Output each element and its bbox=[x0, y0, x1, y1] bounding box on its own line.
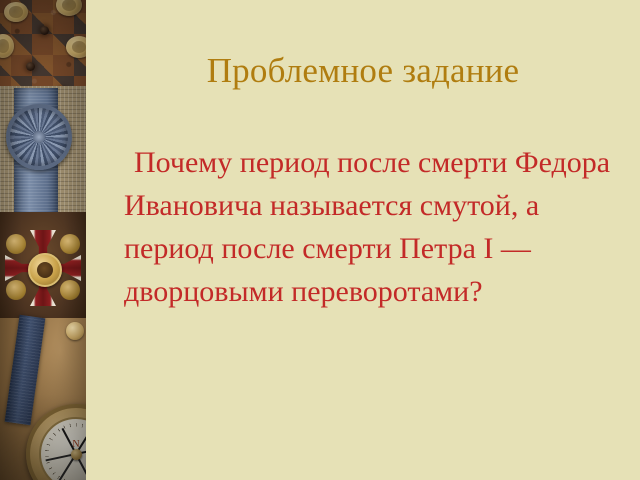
medal-center-medallion-icon bbox=[28, 253, 62, 287]
filigree-ornament-icon bbox=[6, 280, 26, 300]
compass-hub-icon bbox=[71, 449, 82, 460]
cross-medal-icon bbox=[0, 220, 86, 316]
strip-image-layer: N bbox=[0, 0, 86, 480]
slide-title: Проблемное задание bbox=[86, 52, 640, 91]
filigree-ornament-icon bbox=[60, 280, 80, 300]
gold-coin-icon bbox=[66, 322, 84, 340]
ribbon-rosette-icon bbox=[6, 104, 72, 170]
gold-coin-icon bbox=[4, 2, 28, 22]
filigree-ornament-icon bbox=[6, 234, 26, 254]
slide-content-area: Проблемное задание Почему период после с… bbox=[86, 0, 640, 480]
dark-stud-icon bbox=[40, 26, 49, 35]
decorative-photo-strip: N bbox=[0, 0, 86, 480]
compass-face-icon: N bbox=[39, 417, 86, 480]
gold-coin-icon bbox=[66, 36, 86, 58]
dark-stud-icon bbox=[26, 62, 35, 71]
presentation-slide: N Проблемное задание Почему период после… bbox=[0, 0, 640, 480]
slide-body-text: Почему период после смерти Федора Иванов… bbox=[124, 141, 624, 313]
filigree-ornament-icon bbox=[60, 234, 80, 254]
